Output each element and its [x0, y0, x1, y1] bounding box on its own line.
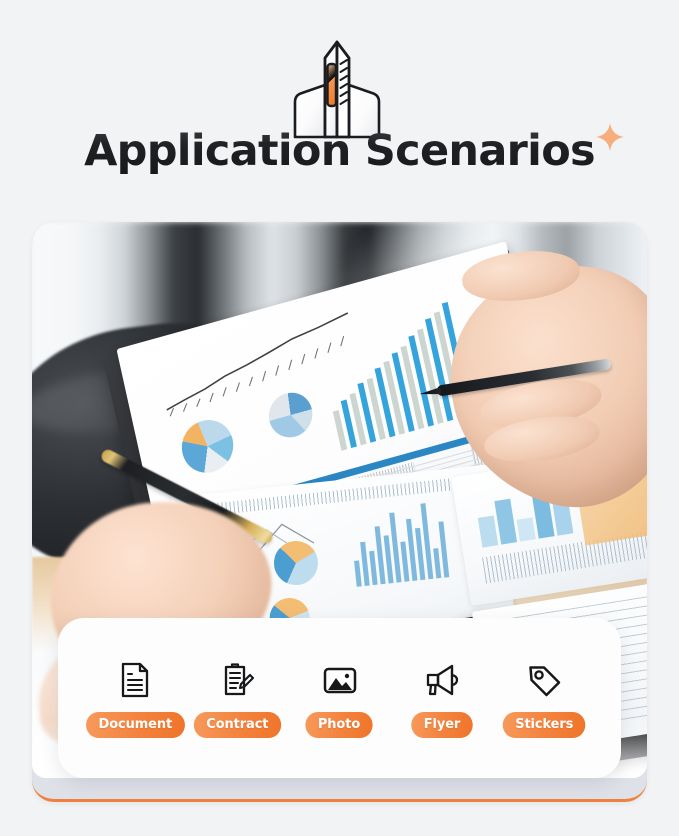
category-item-contract[interactable]: Contract — [186, 659, 288, 738]
megaphone-icon — [421, 659, 463, 701]
category-label-photo[interactable]: Photo — [306, 712, 373, 738]
title-wrapper: Application Scenarios — [84, 125, 595, 177]
category-item-photo[interactable]: Photo — [289, 659, 391, 738]
report-pie-chart-1 — [177, 414, 238, 479]
category-label-document[interactable]: Document — [86, 712, 184, 738]
document-icon — [114, 659, 156, 701]
desk-doc-bars — [348, 498, 449, 587]
category-card: Document Contract — [58, 618, 621, 778]
report-pie-chart-2 — [265, 388, 317, 443]
page-title-row: Application Scenarios — [0, 125, 679, 177]
category-item-flyer[interactable]: Flyer — [391, 659, 493, 738]
tag-icon — [523, 659, 565, 701]
page-header: Application Scenarios — [0, 0, 679, 212]
category-label-flyer[interactable]: Flyer — [411, 712, 472, 738]
sparkle-icon — [595, 122, 625, 152]
category-label-stickers[interactable]: Stickers — [502, 712, 585, 738]
image-icon — [319, 659, 361, 701]
page-title: Application Scenarios — [84, 126, 595, 176]
contract-clipboard-pencil-icon — [216, 659, 258, 701]
category-item-stickers[interactable]: Stickers — [493, 659, 595, 738]
application-scenarios-page: Application Scenarios — [0, 0, 679, 836]
category-label-contract[interactable]: Contract — [194, 712, 281, 738]
category-item-document[interactable]: Document — [84, 659, 186, 738]
